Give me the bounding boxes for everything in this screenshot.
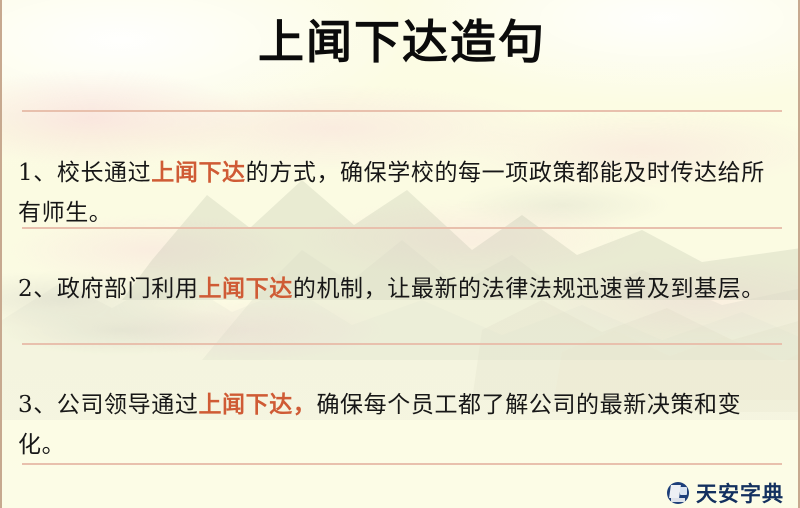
page-title: 上闻下达造句 xyxy=(258,14,546,72)
sentence-3-keyword: 上闻下达， xyxy=(198,391,316,418)
example-sentence-2: 2、政府部门利用上闻下达的机制，让最新的法律法规迅速普及到基层。 xyxy=(18,269,786,309)
sentence-3-before: 公司领导通过 xyxy=(57,392,199,418)
sentence-2-keyword: 上闻下达 xyxy=(198,275,292,302)
sentence-1-before: 校长通过 xyxy=(57,160,151,186)
sentence-2-index: 2、 xyxy=(18,276,57,302)
brand-name: 天安字典 xyxy=(696,478,784,508)
sentence-1-keyword: 上闻下达 xyxy=(151,159,245,186)
sentence-2-after: 的机制，让最新的法律法规迅速普及到基层。 xyxy=(293,276,765,302)
example-sentence-1: 1、校长通过上闻下达的方式，确保学校的每一项政策都能及时传达给所有师生。 xyxy=(18,153,786,233)
divider-1 xyxy=(22,110,782,112)
page-root: 上闻下达造句 1、校长通过上闻下达的方式，确保学校的每一项政策都能及时传达给所有… xyxy=(0,0,800,508)
page-title-wrapper: 上闻下达造句 xyxy=(2,14,800,72)
sentence-3-index: 3、 xyxy=(18,392,57,418)
circular-seal-icon xyxy=(667,482,689,504)
sentence-1-index: 1、 xyxy=(18,160,57,186)
sentence-2-before: 政府部门利用 xyxy=(57,276,199,302)
divider-3 xyxy=(22,343,782,345)
brand-logo: 天安字典 xyxy=(667,478,784,508)
example-sentence-3: 3、公司领导通过上闻下达，确保每个员工都了解公司的最新决策和变化。 xyxy=(18,385,786,465)
